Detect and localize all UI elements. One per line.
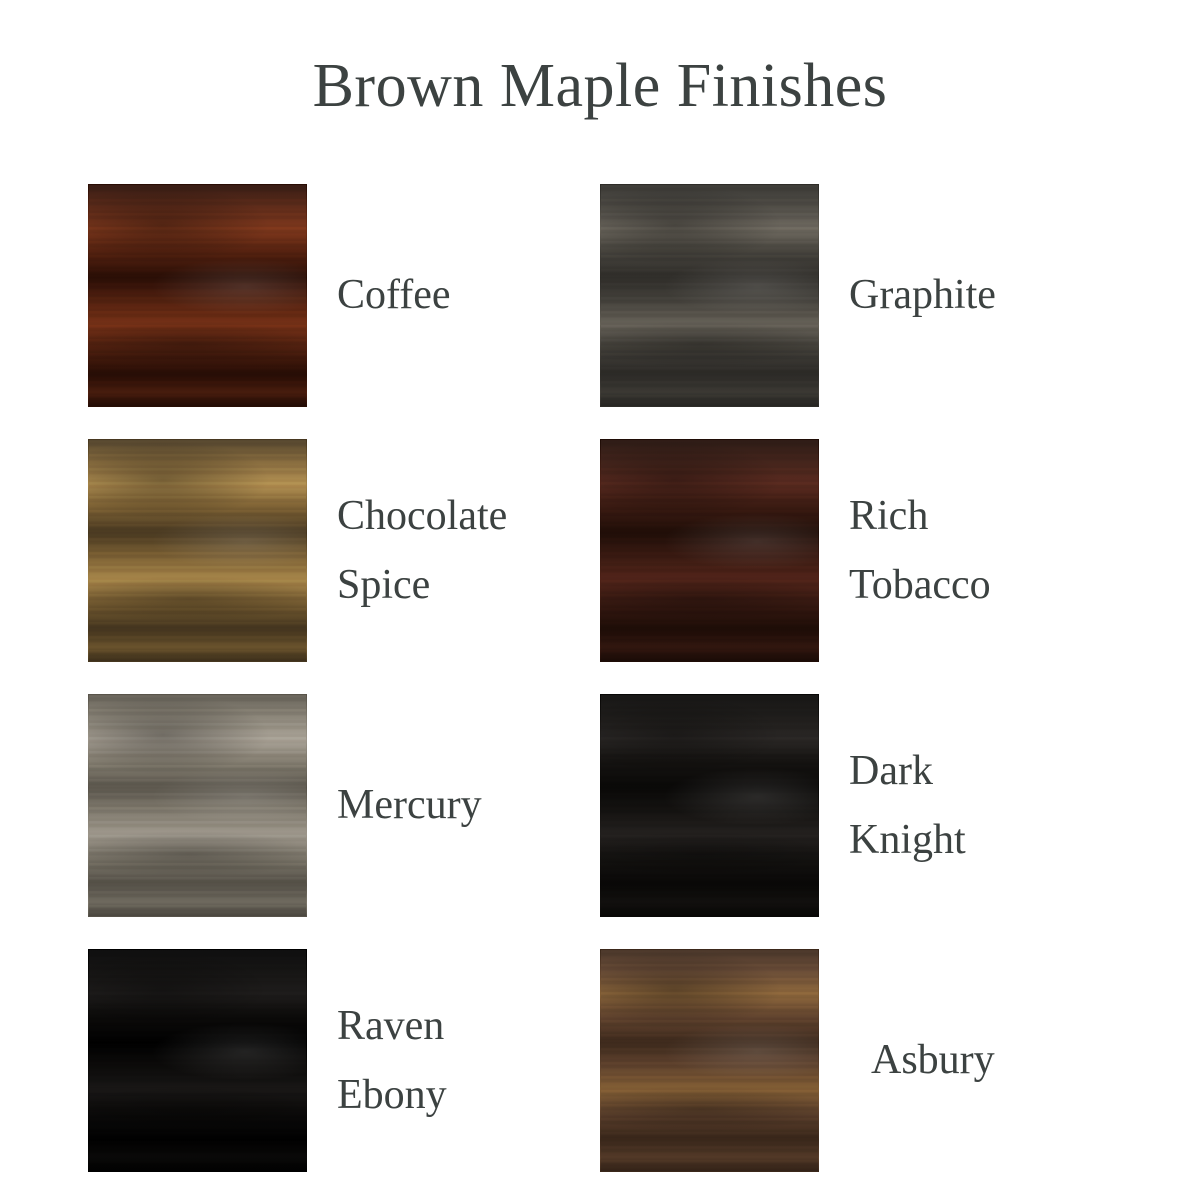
page-title: Brown Maple Finishes [0, 52, 1200, 120]
finish-sample-board: Brown Maple Finishes Coffee Graphite Cho… [0, 0, 1200, 1200]
finish-item-raven-ebony[interactable]: Raven Ebony [88, 933, 600, 1188]
finish-label-graphite: Graphite [819, 261, 1112, 329]
finish-grid: Coffee Graphite Chocolate Spice Rich Tob… [88, 168, 1112, 1188]
finish-item-mercury[interactable]: Mercury [88, 678, 600, 933]
finish-label-dark-knight: Dark Knight [819, 737, 1112, 873]
swatch-chocolate-spice[interactable] [88, 439, 307, 662]
swatch-rich-tobacco[interactable] [600, 439, 819, 662]
finish-label-mercury: Mercury [307, 771, 600, 839]
swatch-mercury[interactable] [88, 694, 307, 917]
finish-item-coffee[interactable]: Coffee [88, 168, 600, 423]
finish-label-chocolate-spice: Chocolate Spice [307, 482, 600, 618]
finish-label-rich-tobacco: Rich Tobacco [819, 482, 1112, 618]
swatch-raven-ebony[interactable] [88, 949, 307, 1172]
finish-row: Mercury Dark Knight [88, 678, 1112, 933]
finish-item-dark-knight[interactable]: Dark Knight [600, 678, 1112, 933]
finish-label-raven-ebony: Raven Ebony [307, 992, 600, 1128]
finish-item-asbury[interactable]: Asbury [600, 933, 1112, 1188]
finish-label-coffee: Coffee [307, 261, 600, 329]
finish-item-chocolate-spice[interactable]: Chocolate Spice [88, 423, 600, 678]
finish-row: Raven Ebony Asbury [88, 933, 1112, 1188]
swatch-coffee[interactable] [88, 184, 307, 407]
finish-item-rich-tobacco[interactable]: Rich Tobacco [600, 423, 1112, 678]
finish-row: Coffee Graphite [88, 168, 1112, 423]
finish-item-graphite[interactable]: Graphite [600, 168, 1112, 423]
finish-label-asbury: Asbury [819, 1026, 1112, 1094]
swatch-graphite[interactable] [600, 184, 819, 407]
swatch-asbury[interactable] [600, 949, 819, 1172]
swatch-dark-knight[interactable] [600, 694, 819, 917]
finish-row: Chocolate Spice Rich Tobacco [88, 423, 1112, 678]
